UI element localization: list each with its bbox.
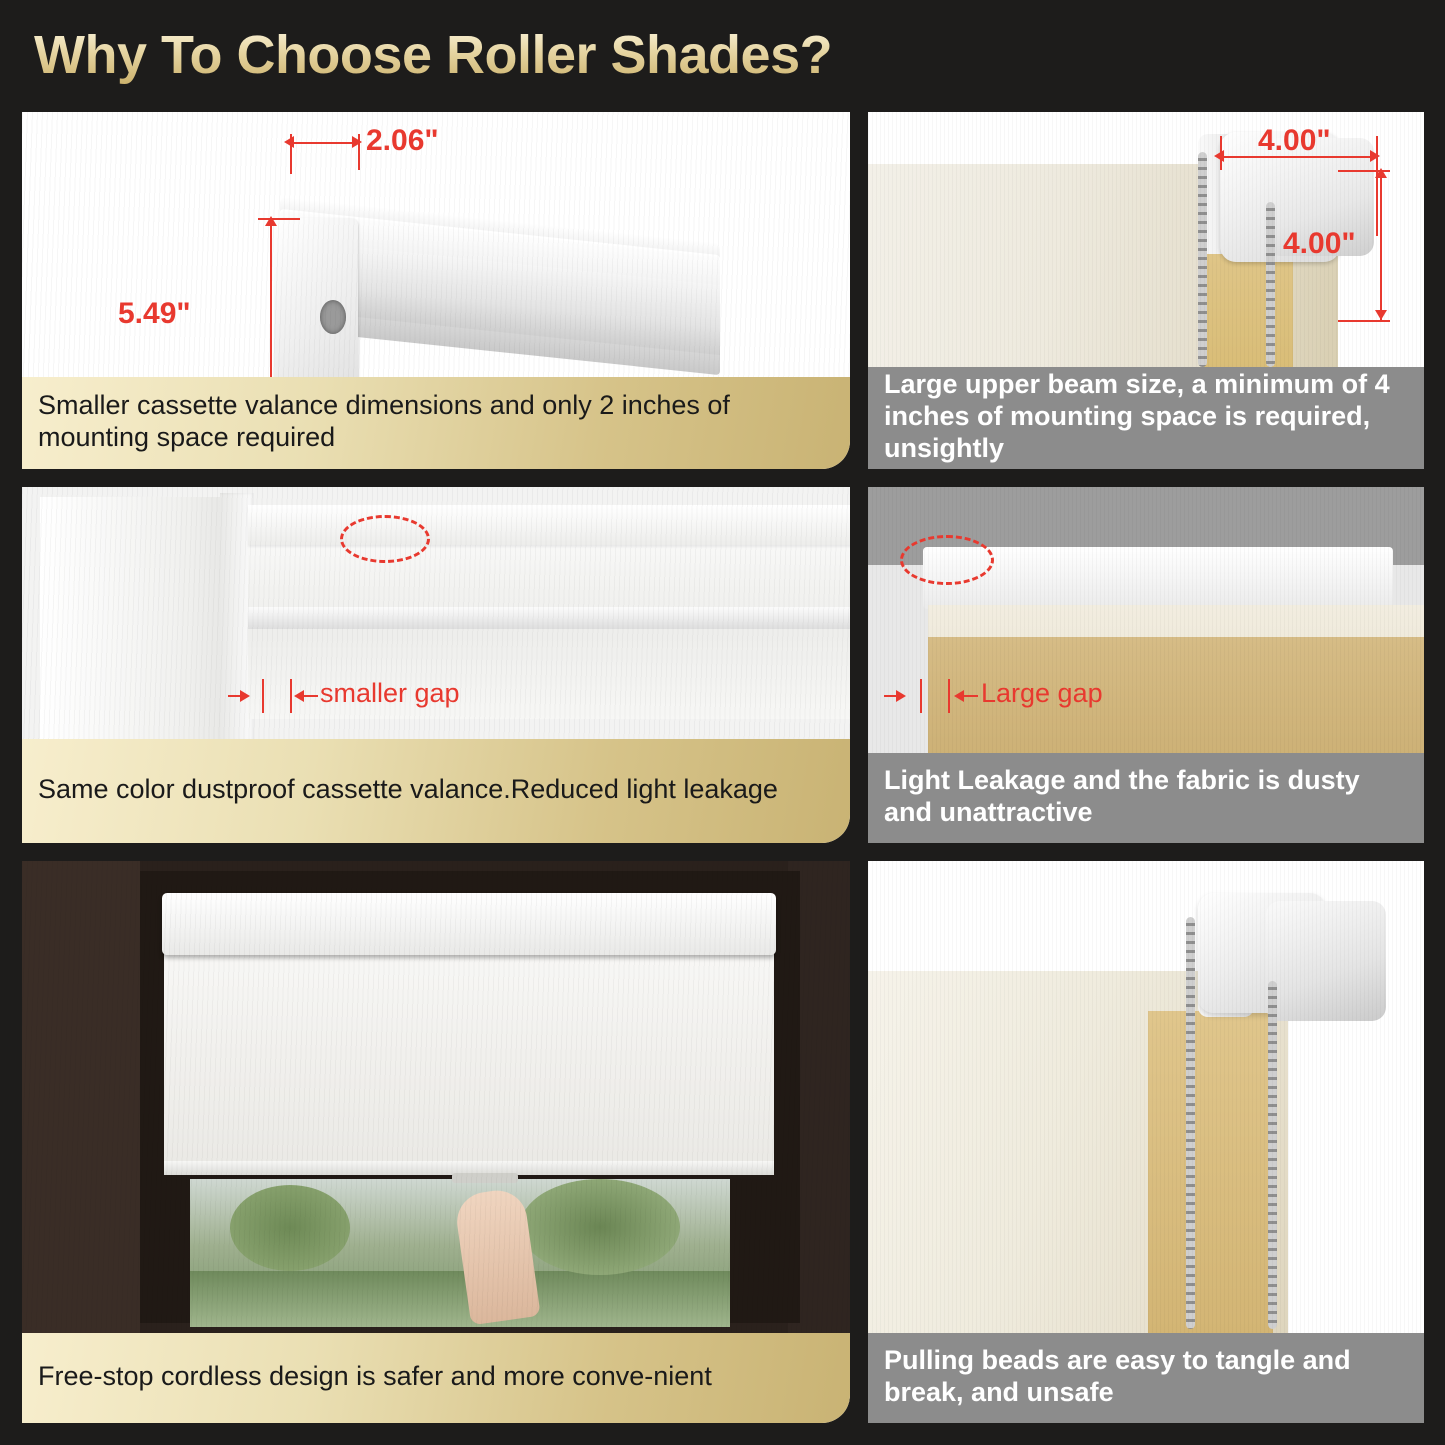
photo-large-upper-beam: 4.00" 4.00": [868, 112, 1424, 367]
dim-beam-height-label: 4.00": [1283, 227, 1356, 261]
panel-cassette-valance-dimensions: 2.06" 5.49" Smaller cassette valance dim…: [22, 112, 850, 469]
dim-width-label: 2.06": [366, 124, 439, 158]
panel-pulling-beads: Pulling beads are easy to tangle and bre…: [868, 861, 1424, 1423]
photo-cordless-design: [22, 861, 850, 1333]
panel-dustproof-cassette: smaller gap Same color dustproof cassett…: [22, 487, 850, 843]
photo-dustproof-cassette: smaller gap: [22, 487, 850, 739]
highlight-ellipse-large-gap: [900, 535, 994, 585]
caption-cordless-design: Free-stop cordless design is safer and m…: [22, 1333, 850, 1423]
dim-height-label: 5.49": [118, 297, 191, 331]
dim-height-line: [270, 218, 272, 377]
label-smaller-gap: smaller gap: [320, 678, 460, 709]
caption-dustproof-cassette: Same color dustproof cassette valance.Re…: [22, 739, 850, 843]
label-large-gap: Large gap: [981, 678, 1103, 709]
gap-tick-left: [262, 679, 264, 713]
dim-beam-height-tick-b: [1338, 320, 1390, 322]
gap-tick-right: [290, 679, 292, 713]
dim-beam-width-label: 4.00": [1258, 124, 1331, 158]
bead-chain: [1198, 152, 1207, 367]
photo-light-leakage: Large gap: [868, 487, 1424, 753]
dim-beam-height-line: [1380, 170, 1382, 320]
photo-pulling-beads: [868, 861, 1424, 1333]
dim-width-line: [290, 142, 360, 144]
caption-pulling-beads: Pulling beads are easy to tangle and bre…: [868, 1333, 1424, 1423]
highlight-ellipse-smaller-gap: [340, 515, 430, 563]
caption-large-upper-beam: Large upper beam size, a minimum of 4 in…: [868, 367, 1424, 469]
window-glass: [190, 1179, 730, 1327]
bead-chain-right: [1268, 981, 1277, 1329]
infographic-page: Why To Choose Roller Shades? 2.06": [0, 0, 1445, 1445]
gap-tick-left-4: [920, 679, 922, 713]
caption-cassette-valance-dimensions: Smaller cassette valance dimensions and …: [22, 377, 850, 469]
photo-cassette-valance: 2.06" 5.49": [22, 112, 850, 377]
panel-cordless-design: Free-stop cordless design is safer and m…: [22, 861, 850, 1423]
page-title: Why To Choose Roller Shades?: [34, 24, 832, 86]
panel-light-leakage: Large gap Light Leakage and the fabric i…: [868, 487, 1424, 843]
bead-chain-2: [1266, 202, 1275, 367]
panel-large-upper-beam: 4.00" 4.00" Large upper beam size, a min…: [868, 112, 1424, 469]
caption-light-leakage: Light Leakage and the fabric is dusty an…: [868, 753, 1424, 843]
gap-tick-right-4: [948, 679, 950, 713]
bead-chain-left: [1186, 917, 1195, 1329]
